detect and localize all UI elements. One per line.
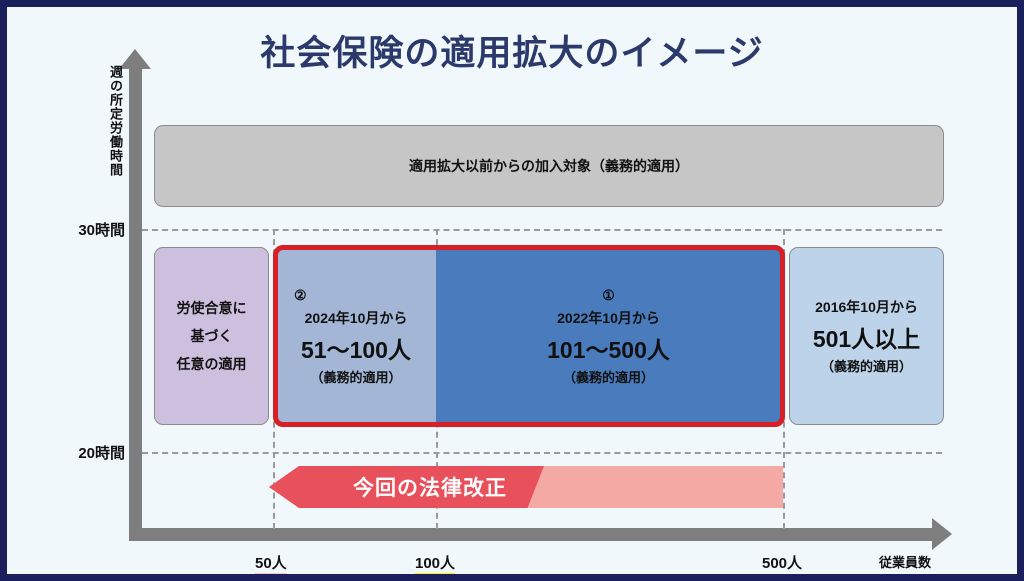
gridline-30h [142, 229, 942, 231]
voluntary-line-3: 任意の適用 [177, 350, 247, 378]
infographic-canvas: 社会保険の適用拡大のイメージ 週の所定労働時間 従業員数 30時間 20時間 適… [0, 0, 1024, 581]
page-title: 社会保険の適用拡大のイメージ [7, 25, 1017, 76]
voluntary-line-2: 基づく [191, 322, 233, 350]
box-expansion-2024: ② 2024年10月から 51〜100人 （義務的適用） [275, 247, 436, 425]
box-voluntary-coverage: 労使合意に 基づく 任意の適用 [154, 247, 269, 425]
x-tick-500people-label: 500人 [762, 555, 802, 573]
y-tick-20h: 20時間 [47, 442, 125, 463]
box-expansion-2022: ① 2022年10月から 101〜500人 （義務的適用） [436, 247, 782, 425]
gridline-500people [783, 229, 785, 529]
badge-2022: ① [602, 287, 615, 304]
x-tick-100people-label: 100人 [415, 555, 455, 577]
date-2022: 2022年10月から [557, 308, 660, 328]
range-2024: 51〜100人 [301, 331, 411, 365]
badge-2024: ② [294, 287, 307, 304]
x-axis-line [129, 528, 937, 541]
banner-new-law-arrow: 今回の法律改正 [269, 466, 783, 508]
x-axis-arrow-icon [932, 518, 952, 550]
range-2022: 101〜500人 [547, 331, 670, 365]
box-legacy-label: 適用拡大以前からの加入対象（義務的適用） [409, 156, 689, 176]
range-2016: 501人以上 [813, 320, 920, 354]
x-tick-500people: 500人 [762, 552, 802, 573]
note-2024: （義務的適用） [310, 367, 401, 386]
y-axis-label: 週の所定労働時間 [99, 65, 123, 177]
date-2016: 2016年10月から [815, 297, 918, 317]
y-axis-line [129, 65, 142, 535]
x-tick-50people-label: 50人 [255, 555, 287, 577]
x-tick-100people: 100人 [415, 552, 455, 573]
voluntary-line-1: 労使合意に [177, 294, 247, 322]
x-tick-50people: 50人 [255, 552, 287, 573]
banner-label: 今回の法律改正 [269, 466, 783, 508]
box-legacy-coverage: 適用拡大以前からの加入対象（義務的適用） [154, 125, 944, 207]
date-2024: 2024年10月から [305, 308, 408, 328]
box-expansion-2016: 2016年10月から 501人以上 （義務的適用） [789, 247, 944, 425]
note-2016: （義務的適用） [821, 356, 912, 375]
y-axis-arrow-icon [119, 49, 151, 69]
gridline-20h [142, 452, 942, 454]
y-tick-30h: 30時間 [47, 219, 125, 240]
x-axis-title: 従業員数 [879, 552, 931, 571]
note-2022: （義務的適用） [563, 367, 654, 386]
